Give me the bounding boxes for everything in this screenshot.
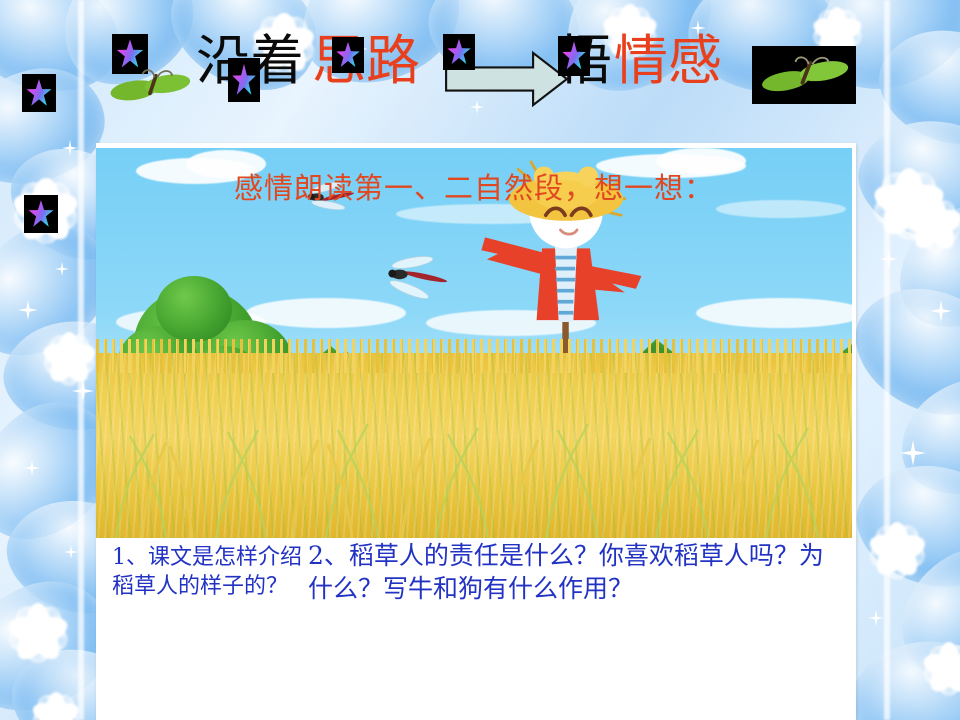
star-sticker-7: [24, 195, 58, 233]
star-sticker-3: [228, 58, 260, 102]
tree-crown: [156, 276, 232, 342]
butterfly-left-icon: [104, 64, 196, 108]
star-sticker-2: [22, 74, 56, 112]
bg-stripe: [884, 0, 890, 720]
bg-flower: [30, 690, 82, 720]
bg-flower: [866, 520, 928, 582]
rice-stalks: [96, 338, 852, 538]
title-part-qinggan: 情感: [614, 26, 722, 96]
question-1: 1、课文是怎样介绍稻草人的样子的？: [112, 543, 317, 602]
reading-instruction-caption: 感情朗读第一、二自然段，想一想：: [96, 165, 852, 207]
butterfly-right-box: [752, 46, 856, 104]
star-sticker-5: [443, 34, 475, 70]
content-card: 感情朗读第一、二自然段，想一想： 1、课文是怎样介绍稻草人的样子的？ 2、稻草人…: [96, 143, 856, 720]
star-sticker-4: [332, 37, 364, 73]
title-part-silu: 思路: [312, 26, 420, 96]
star-sticker-6: [558, 36, 590, 76]
bg-flower: [920, 640, 960, 698]
dragonfly-icon: [366, 248, 462, 304]
bg-flower: [5, 600, 71, 666]
question-2: 2、稻草人的责任是什么？你喜欢稻草人吗？为什么？写牛和狗有什么作用？: [308, 539, 828, 606]
bg-flower: [40, 330, 98, 388]
bg-flower: [905, 195, 960, 255]
bg-stripe: [78, 0, 84, 720]
butterfly-right-icon: [758, 52, 850, 98]
